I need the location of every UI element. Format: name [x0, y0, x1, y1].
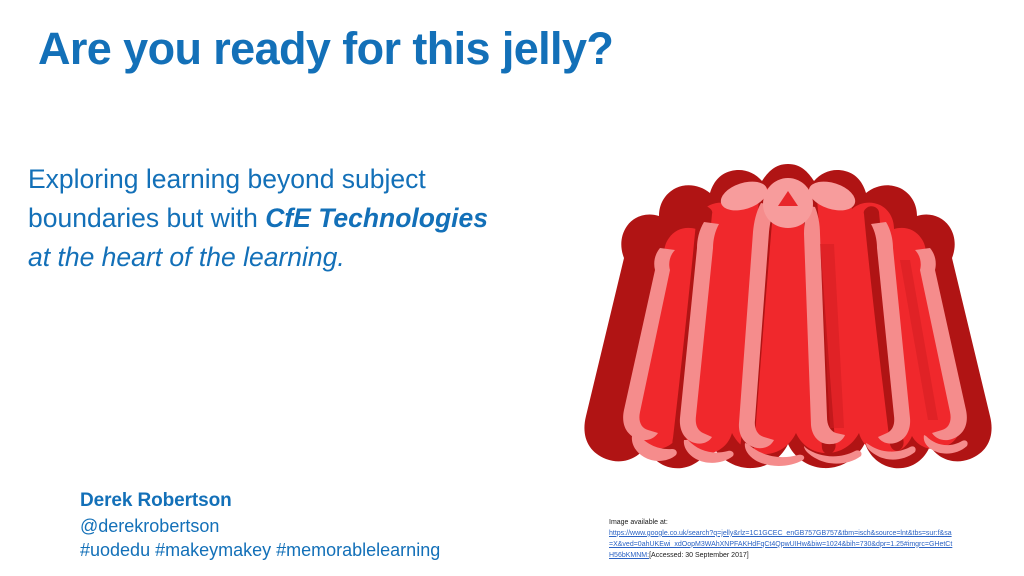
credit-twitter-handle: @derekrobertson: [80, 514, 500, 538]
body-paragraph: Exploring learning beyond subject bounda…: [28, 160, 498, 277]
attribution-accessed-date: [Accessed: 30 September 2017]: [649, 552, 749, 559]
jelly-illustration: [558, 148, 1018, 496]
body-segment-italic: at the heart of the learning.: [28, 242, 345, 272]
attribution-label: Image available at:: [609, 518, 954, 529]
credit-block: Derek Robertson @derekrobertson #uodedu …: [80, 488, 500, 562]
credit-hashtags: #uodedu #makeymakey #memorablelearning: [80, 538, 500, 562]
credit-author-name: Derek Robertson: [80, 488, 500, 514]
page-title: Are you ready for this jelly?: [38, 22, 738, 75]
slide-canvas: Are you ready for this jelly? Exploring …: [0, 0, 1024, 576]
image-attribution: Image available at:https://www.google.co…: [609, 518, 954, 561]
body-segment-emphasis: CfE Technologies: [265, 203, 488, 233]
